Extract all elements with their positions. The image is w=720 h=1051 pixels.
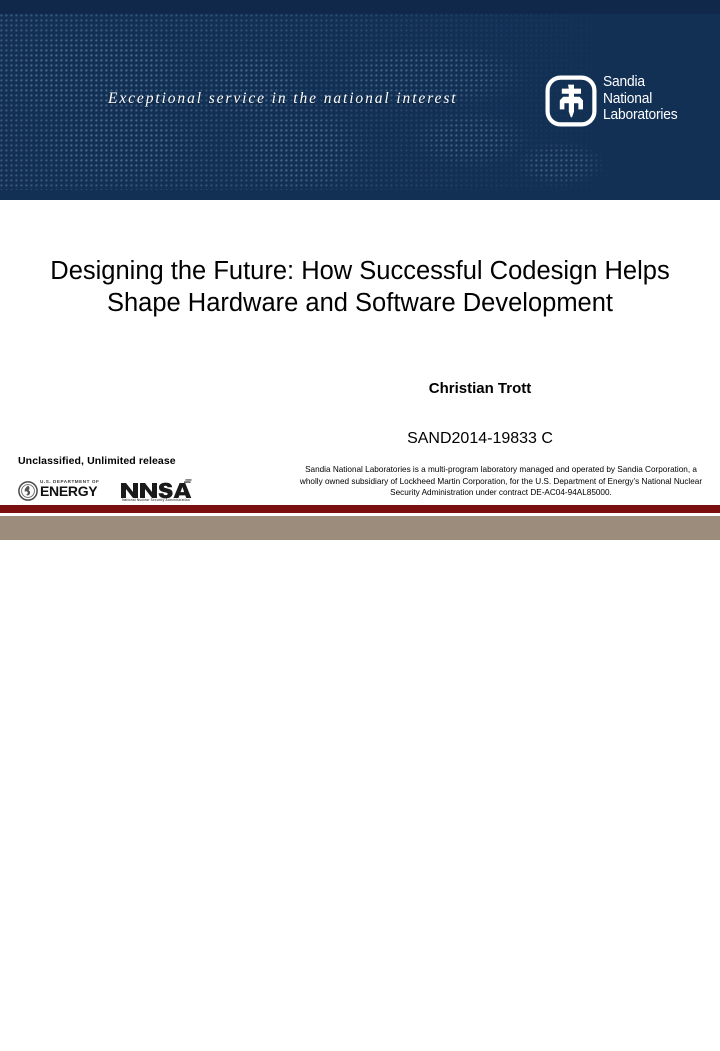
slide-title: Designing the Future: How Successful Cod… [14,255,706,319]
footer-date: 11/18/14 [36,1037,82,1051]
doe-wordmark: U.S. DEPARTMENT OF ENERGY [40,479,99,499]
sandia-logo-line-2: National [603,91,678,108]
doe-seal-icon [18,481,38,501]
doe-energy-label: ENERGY [40,484,99,499]
sandia-logo-line-1: Sandia [603,74,678,91]
presenter-name: Christian Trott [300,380,660,397]
sandia-disclaimer-text: Sandia National Laboratories is a multi-… [295,464,707,499]
sandia-thunderbird-icon [545,75,597,127]
header-top-edge [0,0,720,14]
sandia-logo-wordmark: Sandia National Laboratories [603,74,684,124]
sandia-national-laboratories-logo: Sandia National Laboratories [545,73,695,131]
footer-accent-rule [0,505,720,513]
classification-marking: Unclassified, Unlimited release [18,455,176,467]
slide-header-banner: Exceptional service in the national inte… [0,0,720,200]
agency-logo-group: U.S. DEPARTMENT OF ENERGY National Nucle… [14,478,194,504]
sand-report-number: SAND2014-19833 C [300,430,660,448]
doe-logo: U.S. DEPARTMENT OF ENERGY [18,478,110,504]
sandia-logo-line-3: Laboratories [603,107,678,124]
header-tagline: Exceptional service in the national inte… [108,90,457,108]
nnsa-subtitle: National Nuclear Security Administration [120,498,192,502]
title-slide: Exceptional service in the national inte… [0,0,720,540]
footer-bar: 11/18/14 [0,516,720,540]
